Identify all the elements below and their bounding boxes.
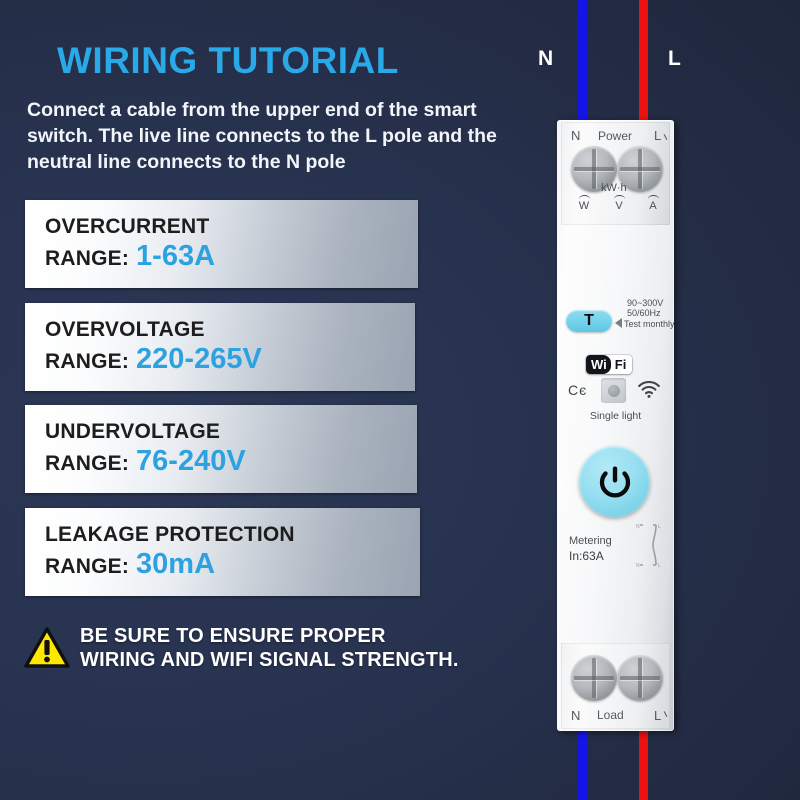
energy-unit-label: kW·h [601, 182, 627, 194]
current-unit-label: A [645, 195, 661, 212]
spec-card-undervoltage: UNDERVOLTAGE RANGE: 76-240V [25, 405, 417, 493]
terminal-screw-l-bottom[interactable] [617, 655, 663, 701]
top-terminal-block: N Power L kW·h W V A [561, 122, 670, 225]
warning-line-2: WIRING AND WIFI SIGNAL STRENGTH. [80, 648, 459, 672]
svg-text:L: L [658, 563, 661, 569]
warning-line-1: BE SURE TO ENSURE PROPER [80, 624, 459, 648]
circuit-diagram-icon: N L N L [633, 521, 665, 569]
input-rating-label: In:63A [569, 549, 604, 563]
bottom-terminal-block: N Load L [561, 643, 670, 729]
svg-text:N: N [636, 563, 640, 569]
wifi-badge: Wi Fi [586, 355, 632, 374]
bottom-terminal-label-load: Load [597, 708, 624, 722]
page-title: WIRING TUTORIAL [57, 40, 399, 82]
neutral-wire-top [578, 0, 587, 123]
led-dot-icon [608, 385, 620, 397]
warning-banner: BE SURE TO ENSURE PROPER WIRING AND WIFI… [24, 624, 459, 673]
spec-card-value: 76-240V [136, 444, 246, 478]
spec-card-name: LEAKAGE PROTECTION [45, 523, 420, 548]
spec-card-range: RANGE: 220-265V [45, 342, 415, 376]
voltage-range-label: 90~300V [627, 298, 663, 308]
svg-text:L: L [658, 524, 661, 530]
spec-card-name: UNDERVOLTAGE [45, 420, 417, 445]
spec-card-leakage-protection: LEAKAGE PROTECTION RANGE: 30mA [25, 508, 420, 596]
power-button[interactable] [579, 446, 650, 517]
spec-card-range-label: RANGE: [45, 247, 129, 272]
voltage-unit-label: V [611, 195, 627, 212]
spec-card-value: 220-265V [136, 342, 262, 376]
spec-card-name: OVERVOLTAGE [45, 318, 415, 343]
terminal-screw-n-bottom[interactable] [571, 655, 617, 701]
spec-card-range-label: RANGE: [45, 555, 129, 580]
ce-mark-icon: Cє [568, 382, 587, 398]
page-subtitle: Connect a cable from the upper end of th… [27, 98, 527, 176]
top-terminal-label-n: N [571, 128, 580, 143]
wifi-badge-part1: Wi [586, 355, 611, 374]
spec-card-range-label: RANGE: [45, 452, 129, 477]
spec-card-range: RANGE: 1-63A [45, 239, 418, 273]
bottom-terminal-label-l: L [654, 708, 661, 723]
metering-label: Metering [569, 535, 612, 547]
live-wire-bottom [639, 728, 648, 800]
wifi-signal-icon [637, 380, 661, 398]
live-wire-top [639, 0, 648, 123]
tutorial-infographic: WIRING TUTORIAL Connect a cable from the… [0, 0, 800, 800]
spec-card-overvoltage: OVERVOLTAGE RANGE: 220-265V [25, 303, 415, 391]
wire-label-neutral: N [538, 47, 553, 71]
status-led-indicator [601, 378, 626, 403]
test-button[interactable]: T [566, 310, 612, 332]
single-light-label: Single light [557, 410, 674, 422]
svg-text:N: N [636, 524, 640, 530]
ground-tick-icon [664, 134, 668, 140]
spec-card-value: 30mA [136, 547, 215, 581]
warning-text: BE SURE TO ENSURE PROPER WIRING AND WIFI… [80, 624, 459, 673]
spec-card-value: 1-63A [136, 239, 215, 273]
spec-card-name: OVERCURRENT [45, 215, 418, 240]
bottom-terminal-label-n: N [571, 708, 580, 723]
power-icon [595, 462, 635, 502]
spec-card-range: RANGE: 30mA [45, 547, 420, 581]
top-terminal-label-l: L [654, 128, 661, 143]
spec-card-overcurrent: OVERCURRENT RANGE: 1-63A [25, 200, 418, 288]
wifi-badge-part2: Fi [611, 355, 633, 374]
warning-triangle-icon [24, 627, 70, 669]
test-arrow-icon [615, 318, 622, 328]
smart-circuit-breaker: N Power L kW·h W V A T 90~300V 50/60Hz T… [557, 120, 674, 731]
power-unit-label: W [576, 195, 592, 212]
wire-label-live: L [668, 47, 681, 71]
spec-card-range-label: RANGE: [45, 350, 129, 375]
test-monthly-label: Test monthly [624, 319, 675, 329]
neutral-wire-bottom [578, 728, 587, 800]
top-terminal-label-power: Power [598, 129, 632, 143]
spec-card-range: RANGE: 76-240V [45, 444, 417, 478]
ground-tick-icon-bottom [664, 711, 668, 717]
frequency-label: 50/60Hz [627, 308, 661, 318]
